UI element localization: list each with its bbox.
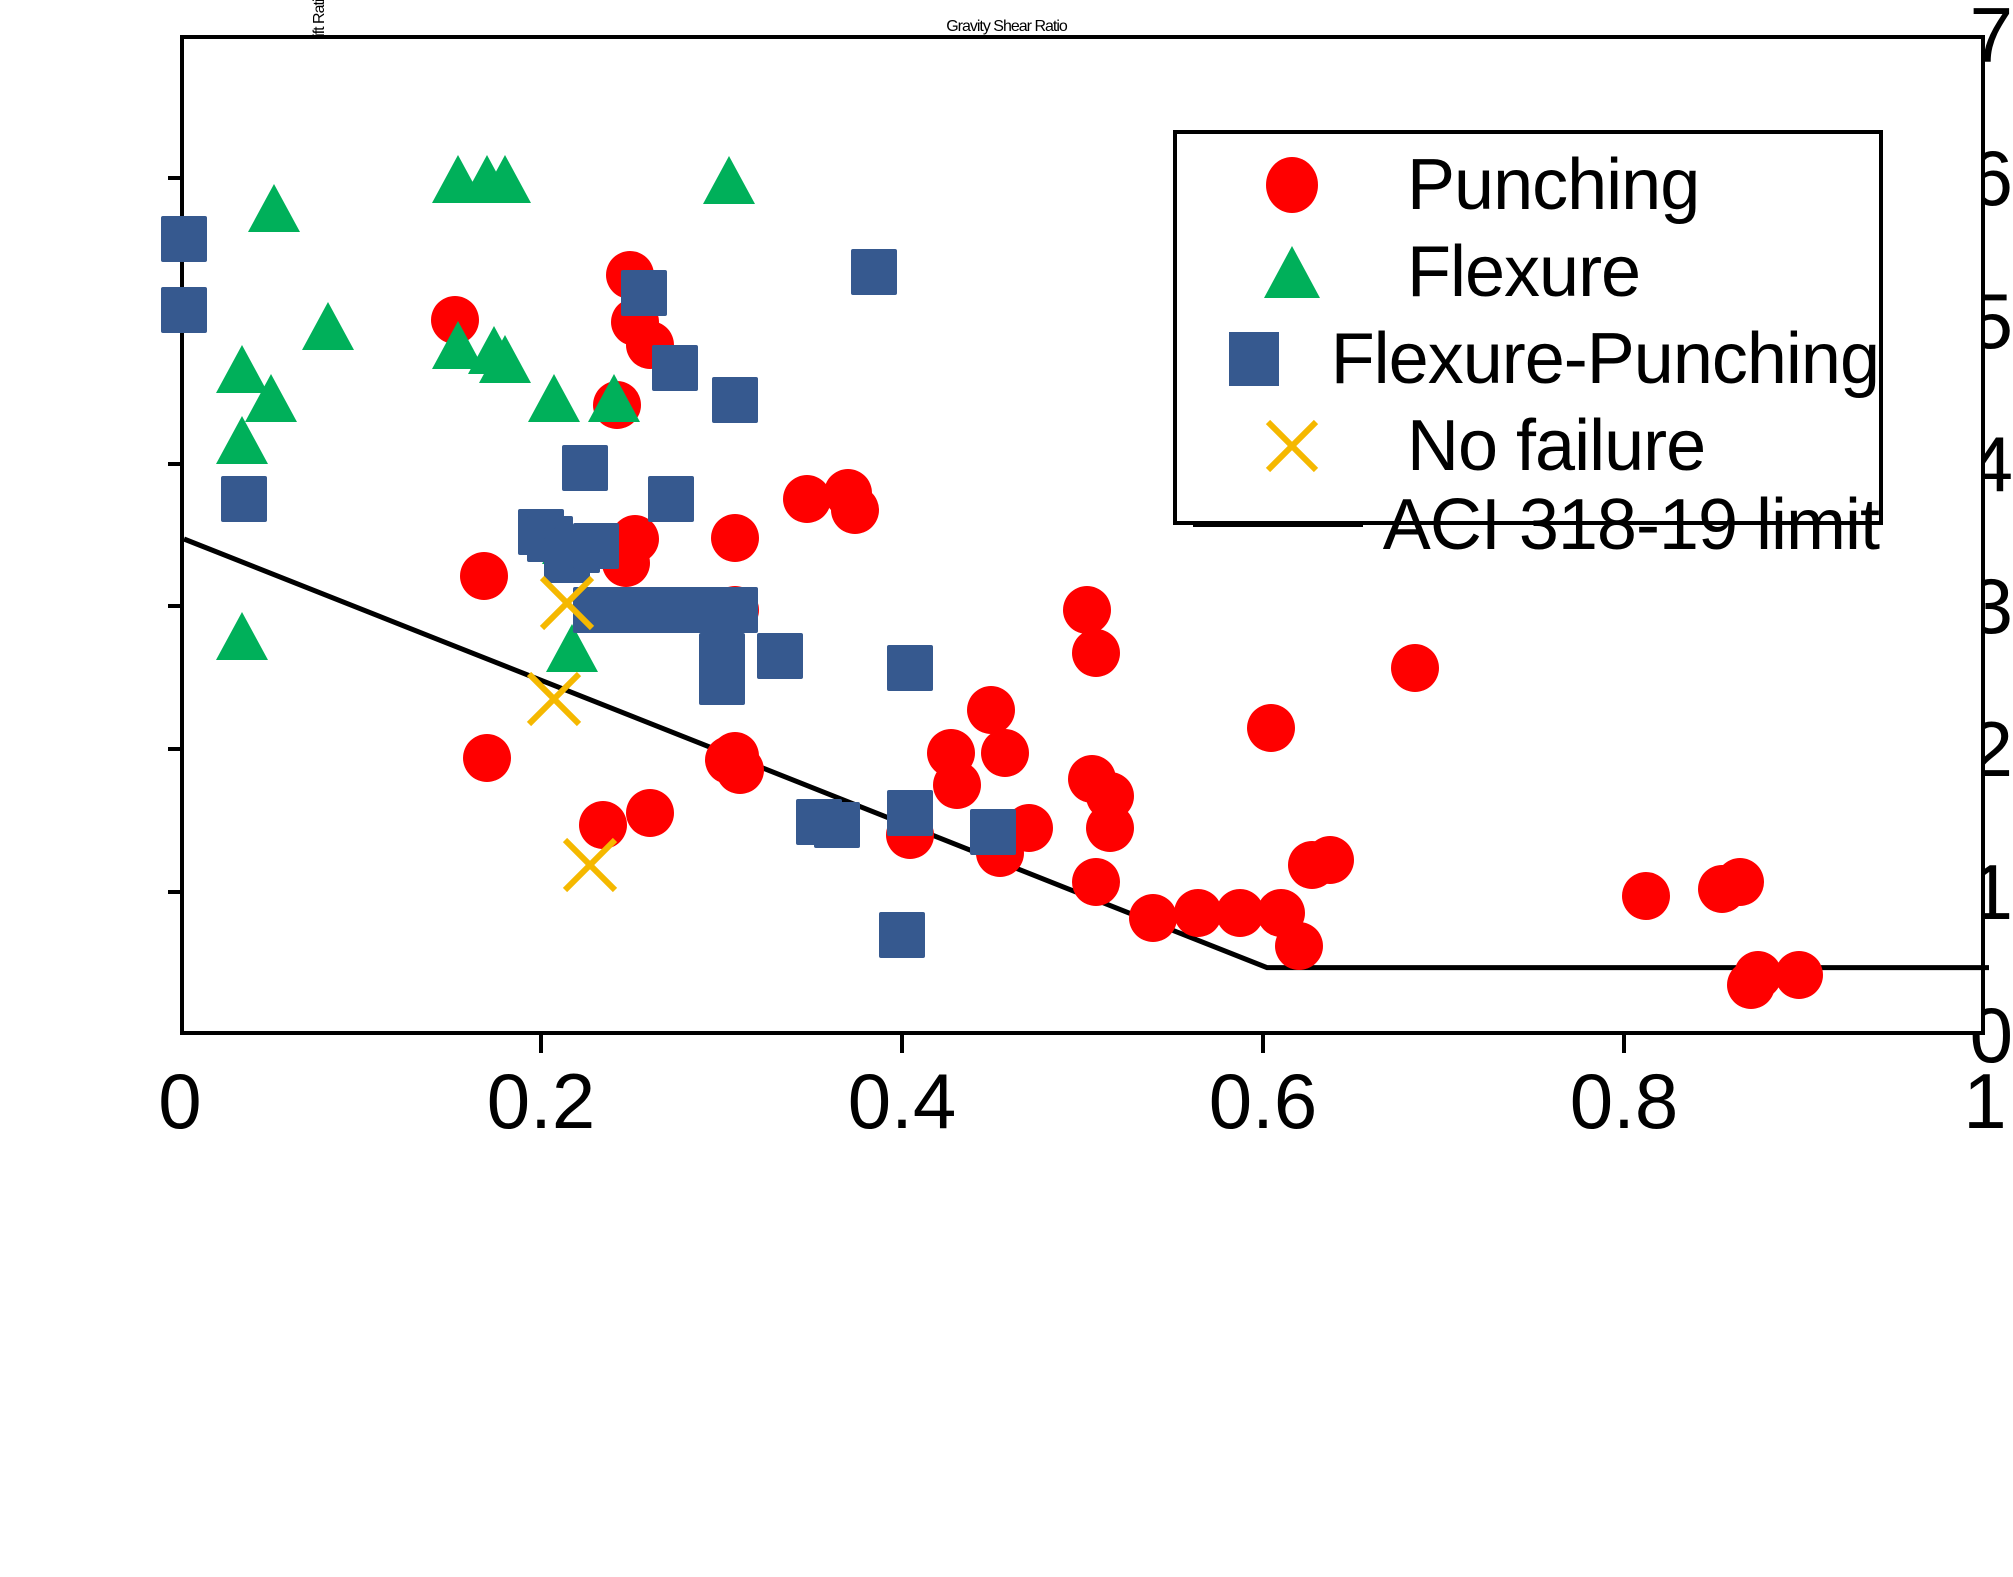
x-tick-label: 0.2 [441,1062,641,1140]
chart-canvas: Drift Ratio (%) Gravity Shear Ratio 0123… [0,0,2013,1577]
legend-item-flexure-punching[interactable]: Flexure-Punching [1177,316,1879,402]
legend-marker-triangle-icon [1177,246,1407,298]
x-tick-label: 0 [80,1062,280,1140]
reference-line-path [184,539,1989,968]
legend-marker-circle-icon [1177,157,1407,213]
x-tick-label: 1 [1885,1062,2013,1140]
chart-legend: PunchingFlexureFlexure-PunchingNo failur… [1173,130,1883,525]
x-tick-label: 0.6 [1163,1062,1363,1140]
legend-label: ACI 318-19 limit [1383,489,1879,561]
legend-marker-square-icon [1177,332,1331,386]
legend-item-aci-318-19-limit[interactable]: ACI 318-19 limit [1177,482,1879,568]
legend-item-no-failure[interactable]: No failure [1177,403,1879,489]
x-tick-label: 0.8 [1524,1062,1724,1140]
legend-label: No failure [1407,410,1705,482]
legend-marker-line-icon [1177,523,1383,527]
legend-label: Flexure-Punching [1331,323,1879,395]
x-axis-title: Gravity Shear Ratio [0,18,2013,36]
legend-label: Punching [1407,149,1699,221]
legend-label: Flexure [1407,236,1640,308]
legend-marker-cross-icon [1177,418,1407,474]
legend-item-flexure[interactable]: Flexure [1177,229,1879,315]
legend-item-punching[interactable]: Punching [1177,142,1879,228]
x-tick-label: 0.4 [802,1062,1002,1140]
